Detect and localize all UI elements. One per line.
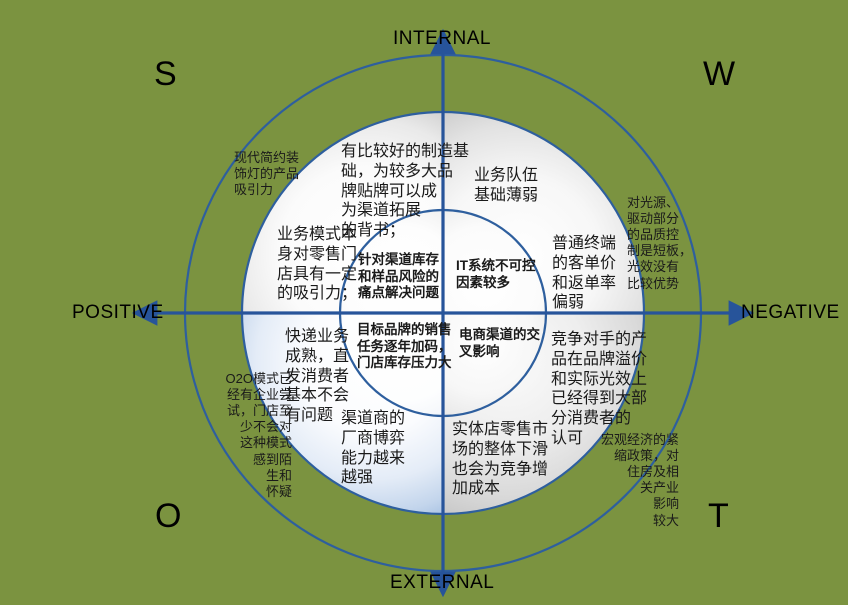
weaknesses-inner-text: IT系统不可控 因素较多 xyxy=(456,258,552,291)
axis-label-internal: INTERNAL xyxy=(393,28,491,50)
threats-inner-text: 电商渠道的交 叉影响 xyxy=(459,327,559,360)
swot-diagram-canvas: INTERNAL EXTERNAL POSITIVE NEGATIVE S W … xyxy=(0,0,848,605)
threats-middle-right-text: 竞争对手的产 品在品牌溢价 和实际光效上 已经得到大部 分消费者的 认可 xyxy=(551,330,651,449)
opportunities-outer-text: O2O模式已 经有企业尝 试，门店至 少不会对 这种模式 感到陌 生和 怀疑 xyxy=(200,371,292,500)
corner-letter-strengths: S xyxy=(154,55,177,94)
weaknesses-middle-top-text: 业务队伍 基础薄弱 xyxy=(474,166,574,206)
strengths-middle-left-text: 业务模式本 身对零售门 店具有一定 的吸引力； xyxy=(277,225,367,304)
threats-middle-bottom-text: 实体店零售市 场的整体下滑 也会为竞争增 加成本 xyxy=(452,420,556,499)
weaknesses-middle-right-text: 普通终端 的客单价 和返单率 偏弱 xyxy=(552,234,630,313)
corner-letter-threats: T xyxy=(708,497,729,536)
strengths-inner-text: 针对渠道库存 和样品风险的 痛点解决问题 xyxy=(358,252,458,302)
opportunities-middle-bottom-text: 渠道商的 厂商博弈 能力越来 越强 xyxy=(341,409,423,488)
weaknesses-outer-text: 对光源、 驱动部分 的品质控 制是短板， 光效没有 比较优势 xyxy=(627,195,715,292)
corner-letter-opportunities: O xyxy=(155,497,181,536)
corner-letter-weaknesses: W xyxy=(703,55,735,94)
opportunities-inner-text: 目标品牌的销售 任务逐年加码， 门店库存压力大 xyxy=(357,322,463,372)
axis-label-positive: POSITIVE xyxy=(72,302,164,324)
axis-label-negative: NEGATIVE xyxy=(741,302,840,324)
strengths-outer-text: 现代简约装 饰灯的产品 吸引力 xyxy=(234,150,334,198)
axis-label-external: EXTERNAL xyxy=(390,572,494,594)
